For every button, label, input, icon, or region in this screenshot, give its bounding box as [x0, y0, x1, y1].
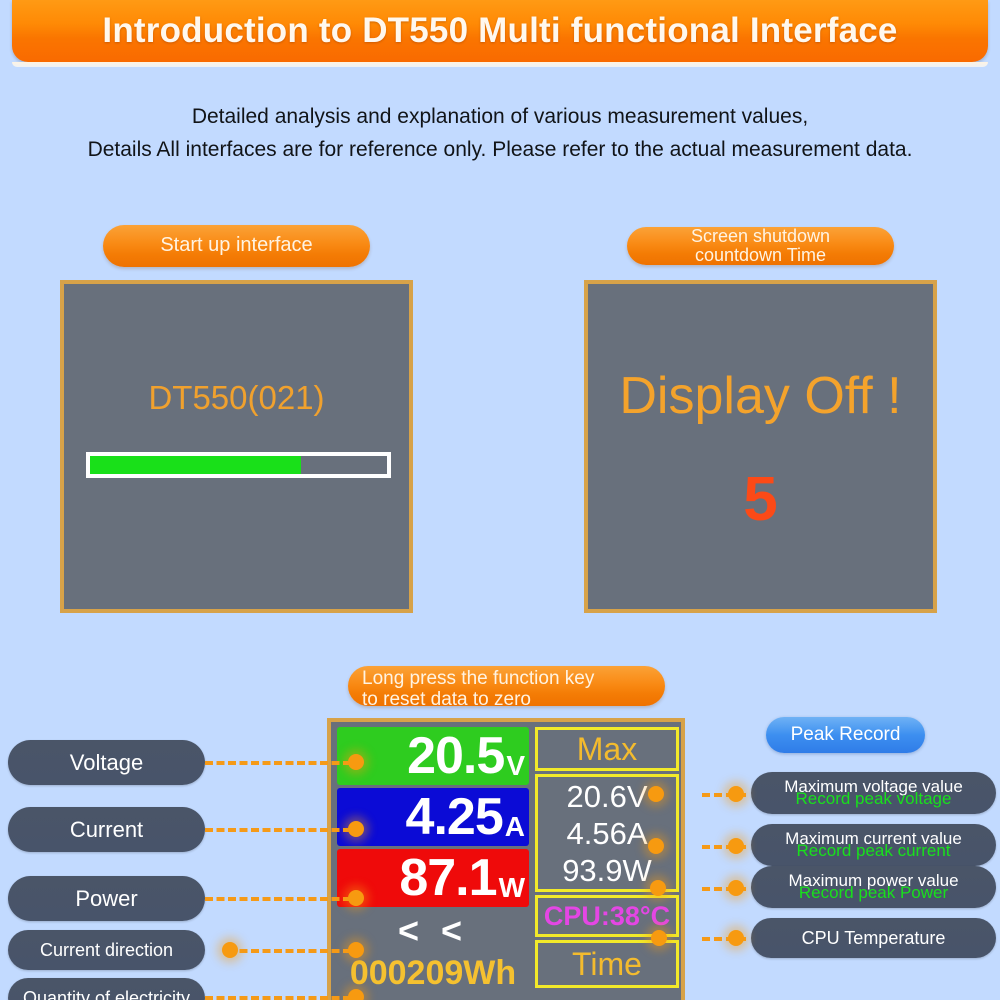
max-section-header: Max [535, 727, 679, 771]
label-max-power-sub: Record peak Power [799, 884, 948, 902]
shutdown-screen-panel: Display Off ! 5 [584, 280, 937, 613]
voltage-value: 20.5 [407, 730, 504, 782]
current-unit: A [505, 813, 525, 846]
connector-voltage [205, 761, 351, 765]
subtitle-line-2: Details All interfaces are for reference… [0, 133, 1000, 166]
connector-dot-direction-src [222, 942, 238, 958]
connector-dot-power [348, 890, 364, 906]
label-cpu-temperature: CPU Temperature [751, 918, 996, 958]
caption-shutdown-line-1: Screen shutdown [691, 227, 830, 246]
connector-dot-max-power-dst [728, 880, 744, 896]
label-power: Power [8, 876, 205, 921]
startup-screen-panel: DT550(021) [60, 280, 413, 613]
connector-current-direction [228, 949, 351, 953]
connector-dot-cpu-src [651, 930, 667, 946]
label-cpu-temperature-text: CPU Temperature [802, 929, 946, 948]
subtitle-line-1: Detailed analysis and explanation of var… [0, 100, 1000, 133]
power-unit: W [499, 874, 525, 907]
peak-record-label: Peak Record [791, 724, 901, 746]
page-title: Introduction to DT550 Multi functional I… [102, 11, 897, 51]
connector-dot-voltage [348, 754, 364, 770]
header-sheen-divider [12, 62, 988, 67]
connector-dot-current [348, 821, 364, 837]
connector-dot-max-current-dst [728, 838, 744, 854]
label-current-text: Current [70, 818, 143, 841]
label-max-current-sub: Record peak current [796, 842, 950, 860]
caption-startup-interface: Start up interface [103, 225, 370, 267]
connector-dot-quantity [348, 989, 364, 1000]
measurement-left-column: 20.5 V 4.25 A 87.1 W [337, 727, 529, 910]
connector-quantity [205, 996, 351, 1000]
connector-dot-max-current-src [648, 838, 664, 854]
connector-dot-cpu-dst [728, 930, 744, 946]
startup-model-text: DT550(021) [64, 379, 409, 417]
time-section-header: Time [535, 940, 679, 988]
label-maximum-voltage: Maximum voltage value Record peak voltag… [751, 772, 996, 814]
connector-dot-max-voltage-src [648, 786, 664, 802]
connector-dot-max-power-src [650, 880, 666, 896]
header-band: Introduction to DT550 Multi functional I… [0, 0, 1000, 68]
energy-quantity-value: 000209Wh [337, 954, 529, 993]
label-voltage-text: Voltage [70, 751, 143, 774]
connector-dot-max-voltage-dst [728, 786, 744, 802]
label-current-direction-text: Current direction [40, 941, 173, 960]
connector-power [205, 897, 351, 901]
caption-longpress-line-1: Long press the function key [362, 669, 594, 690]
page-header-pill: Introduction to DT550 Multi functional I… [12, 0, 988, 62]
label-maximum-current: Maximum current value Record peak curren… [751, 824, 996, 866]
measurement-screen-panel: 20.5 V 4.25 A 87.1 W < < 000209Wh Max 20… [327, 718, 685, 1000]
peak-record-badge: Peak Record [766, 717, 925, 753]
label-power-text: Power [75, 887, 137, 910]
startup-progress-bar [86, 452, 391, 478]
label-quantity-text: Quantity of electricity [23, 989, 190, 1000]
max-power-value: 93.9W [562, 852, 652, 889]
label-maximum-power: Maximum power value Record peak Power [751, 866, 996, 908]
label-max-voltage-sub: Record peak voltage [796, 790, 952, 808]
power-value: 87.1 [399, 852, 496, 904]
measurement-row-current: 4.25 A [337, 788, 529, 846]
label-quantity-of-electricity: Quantity of electricity [8, 978, 205, 1000]
connector-dot-direction-dst [348, 942, 364, 958]
connector-current [205, 828, 351, 832]
subtitle-block: Detailed analysis and explanation of var… [0, 100, 1000, 166]
voltage-unit: V [506, 752, 525, 785]
label-current-direction: Current direction [8, 930, 205, 970]
display-off-text: Display Off ! [588, 366, 933, 426]
caption-screen-shutdown: Screen shutdown countdown Time [627, 227, 894, 265]
caption-long-press-reset: Long press the function key to reset dat… [348, 666, 665, 706]
countdown-number: 5 [588, 464, 933, 535]
label-voltage: Voltage [8, 740, 205, 785]
caption-startup-label: Start up interface [160, 235, 312, 257]
measurement-row-voltage: 20.5 V [337, 727, 529, 785]
current-direction-arrows-icon: < < [337, 910, 529, 952]
startup-progress-fill [90, 456, 301, 474]
caption-longpress-line-2: to reset data to zero [362, 690, 531, 711]
current-value: 4.25 [406, 791, 503, 843]
caption-shutdown-line-2: countdown Time [695, 246, 826, 265]
measurement-row-power: 87.1 W [337, 849, 529, 907]
measurement-right-column: Max 20.6V 4.56A 93.9W CPU:38°C Time [535, 727, 679, 991]
max-voltage-value: 20.6V [566, 778, 647, 815]
max-current-value: 4.56A [566, 815, 647, 852]
label-current: Current [8, 807, 205, 852]
